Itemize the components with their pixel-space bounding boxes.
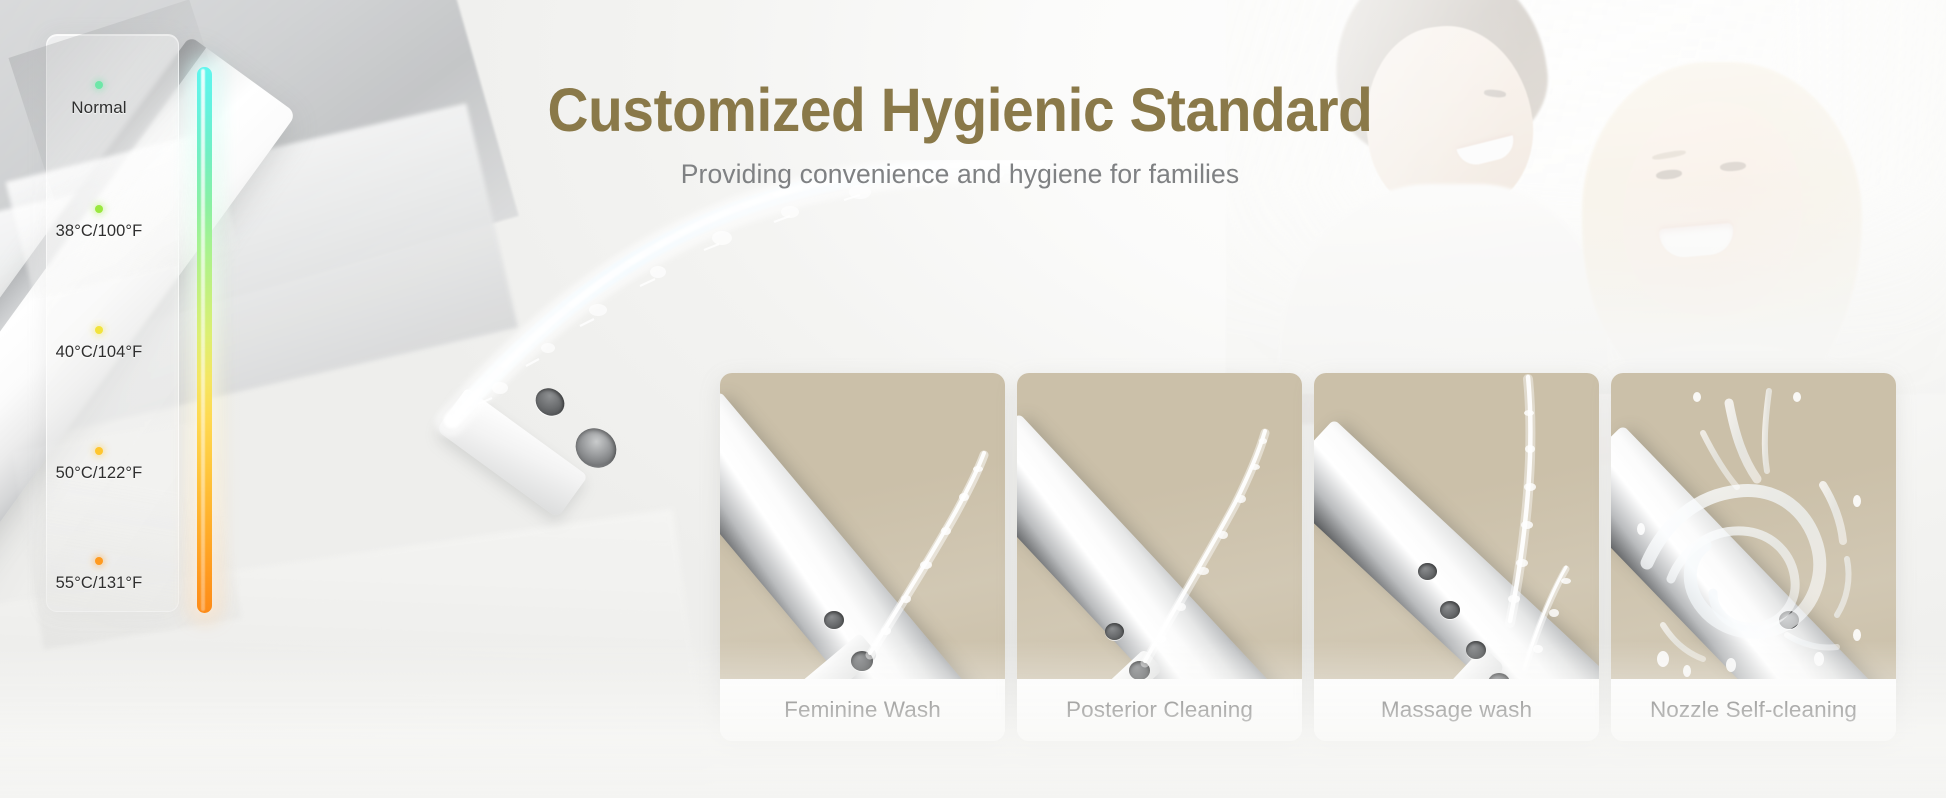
woman-hair: [1582, 62, 1862, 392]
temperature-level-dot: [95, 326, 103, 334]
temperature-panel: Normal38°C/100°F40°C/104°F50°C/122°F55°C…: [46, 34, 179, 612]
wand-spray-hole: [530, 383, 570, 422]
temperature-bar-fill: [197, 67, 212, 613]
feature-card[interactable]: Massage wash: [1314, 373, 1599, 741]
feature-card[interactable]: Feminine Wash: [720, 373, 1005, 741]
card-caption: Massage wash: [1314, 679, 1599, 741]
woman-eyebrow: [1652, 149, 1687, 161]
woman-eye-right: [1720, 161, 1747, 172]
card-spray: [720, 373, 1005, 679]
temperature-level[interactable]: 55°C/131°F: [47, 557, 151, 593]
temperature-level[interactable]: 50°C/122°F: [47, 447, 151, 483]
page-subtitle: Providing convenience and hygiene for fa…: [430, 159, 1490, 190]
temperature-level-label: 40°C/104°F: [56, 343, 143, 362]
page-title: Customized Hygienic Standard: [467, 78, 1453, 142]
couple-photo: [1226, 0, 1946, 394]
card-caption: Posterior Cleaning: [1017, 679, 1302, 741]
woman-smile: [1659, 223, 1735, 259]
card-image: [720, 373, 1005, 679]
promo-banner: Customized Hygienic Standard Providing c…: [0, 0, 1946, 798]
temperature-level[interactable]: Normal: [47, 81, 151, 118]
card-spray: [1017, 373, 1302, 679]
heading-block: Customized Hygienic Standard Providing c…: [430, 78, 1490, 190]
card-image: [1611, 373, 1896, 679]
temperature-level-dot: [95, 81, 103, 89]
temperature-level-dot: [95, 557, 103, 565]
woman-eye-left: [1656, 169, 1683, 181]
card-caption: Feminine Wash: [720, 679, 1005, 741]
feature-card[interactable]: Posterior Cleaning: [1017, 373, 1302, 741]
wand-tip: [436, 388, 588, 518]
temperature-level-label: 55°C/131°F: [56, 574, 143, 593]
temperature-level-label: Normal: [71, 98, 126, 118]
temperature-level[interactable]: 40°C/104°F: [47, 326, 151, 362]
feature-card-row: Feminine Wash: [720, 373, 1896, 741]
temperature-level-list: Normal38°C/100°F40°C/104°F50°C/122°F55°C…: [47, 35, 151, 611]
temperature-level-dot: [95, 205, 103, 213]
temperature-level-label: 38°C/100°F: [56, 222, 143, 241]
card-caption: Nozzle Self-cleaning: [1611, 679, 1896, 741]
photo-fade-overlay-vertical: [1226, 0, 1946, 394]
photo-fade-overlay: [1226, 0, 1946, 394]
temperature-level-dot: [95, 447, 103, 455]
card-spray: [1314, 373, 1599, 679]
woman-face: [1608, 89, 1817, 328]
temperature-level[interactable]: 38°C/100°F: [47, 205, 151, 241]
temperature-bar-highlight: [201, 69, 205, 611]
temperature-gradient-bar[interactable]: [197, 67, 213, 613]
self-cleaning-splash: [1611, 373, 1896, 679]
temperature-level-label: 50°C/122°F: [56, 464, 143, 483]
card-image: [1017, 373, 1302, 679]
feature-card[interactable]: Nozzle Self-cleaning: [1611, 373, 1896, 741]
card-image: [1314, 373, 1599, 679]
